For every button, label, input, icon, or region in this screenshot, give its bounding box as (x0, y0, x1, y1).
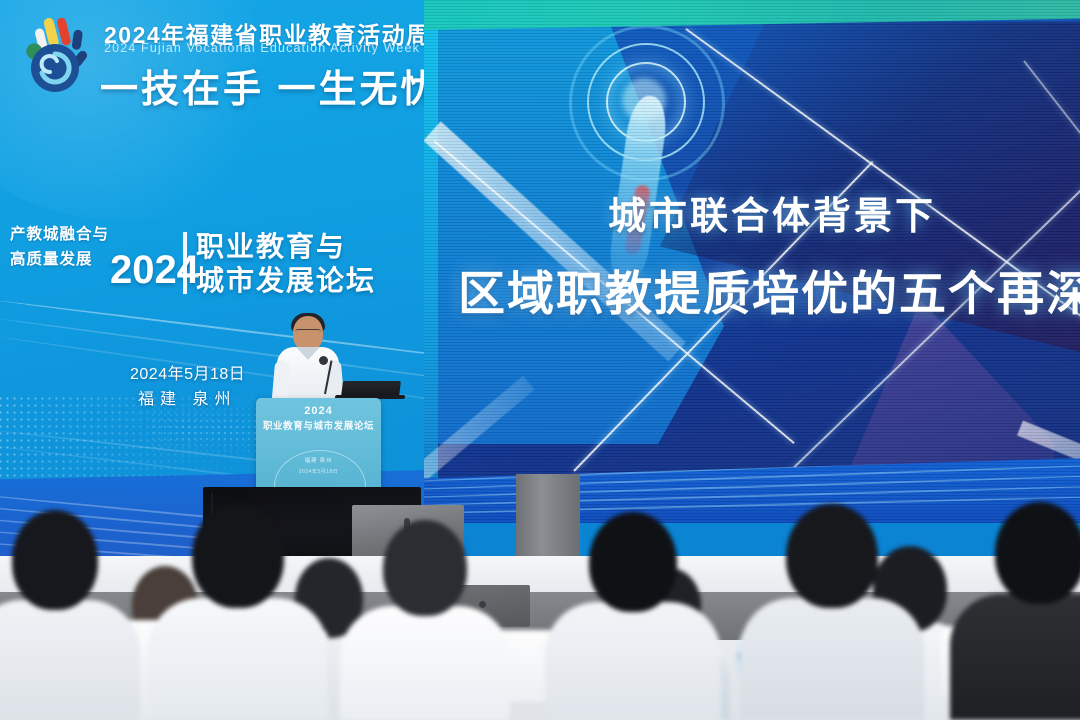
lockup-small-line1: 产教城融合与 (10, 222, 109, 247)
banner-event-date: 2024年5月18日 (130, 366, 245, 383)
speaker-glasses (295, 329, 321, 336)
lockup-title-line1: 职业教育与 (196, 230, 376, 264)
activity-week-hand-logo-icon (22, 14, 100, 96)
banner-slogan: 一技在手 一生无忧 (100, 58, 432, 113)
slide-title-line2: 区域职教提质培优的五个再深化 (458, 255, 1080, 324)
banner-event-date-location: 2024年5月18日 福建 泉州 (130, 362, 245, 412)
podium-date: 2024年5月18日 (256, 468, 381, 475)
banner-lockup-divider (183, 232, 187, 294)
audience-member (545, 524, 721, 720)
banner-headline-en: 2024 Fujian Vocational Education Activit… (104, 41, 420, 55)
audience-member (950, 510, 1080, 720)
audience-member (340, 530, 510, 720)
microphone-head-icon (319, 356, 328, 365)
lockup-small-line2: 高质量发展 (10, 247, 109, 272)
audience-member (740, 518, 924, 720)
banner-lockup-small: 产教城融合与 高质量发展 (10, 222, 109, 272)
audience-member (148, 514, 328, 720)
slide-title-line1: 城市联合体背景下 (608, 185, 936, 240)
banner-lockup-title: 职业教育与 城市发展论坛 (196, 230, 376, 298)
audience-area (0, 480, 1080, 720)
banner-event-location: 福建 泉州 (130, 387, 245, 412)
podium-forum-title: 职业教育与城市发展论坛 (256, 418, 381, 432)
screen-left-edge-strip (424, 20, 438, 490)
podium-laptop (341, 381, 401, 397)
lockup-title-line2: 城市发展论坛 (196, 264, 376, 298)
conference-photo: 2024年福建省职业教育活动周 2024 Fujian Vocational E… (0, 0, 1080, 720)
audience-member (0, 520, 140, 720)
podium-year: 2024 (256, 405, 381, 417)
podium-city: 福建 泉州 (256, 456, 381, 464)
speaker-podium: 2024 职业教育与城市发展论坛 福建 泉州 2024年5月18日 (256, 398, 381, 493)
